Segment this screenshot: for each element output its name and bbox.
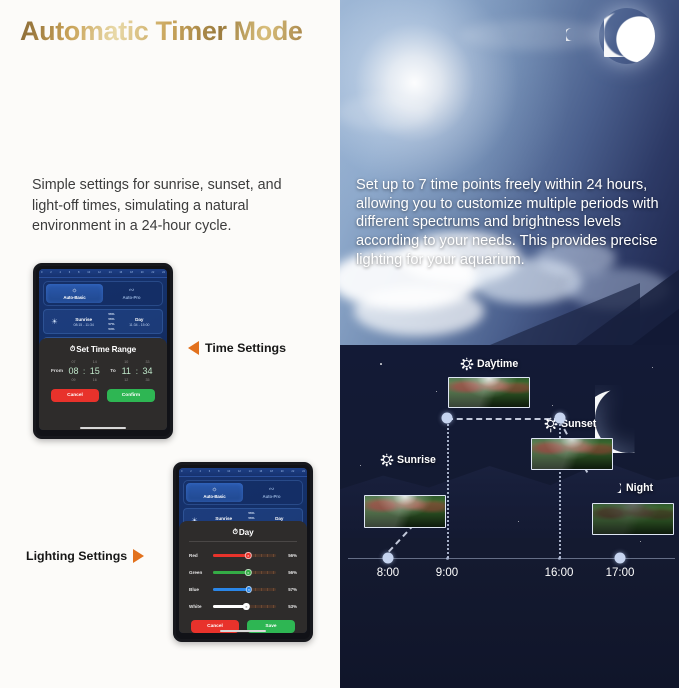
from-group: From 07 08 09 : 14 15 16	[51, 360, 102, 382]
pointer-time-settings: Time Settings	[188, 341, 286, 355]
clock-icon: ⏱	[70, 346, 75, 354]
wheel-next: 35	[146, 378, 150, 382]
slider-fill	[213, 571, 248, 573]
caption-label: Night	[626, 482, 653, 494]
period-sunrise-chips: 56% 56% 57% 53%	[105, 312, 117, 331]
chip-blue: 57%	[107, 322, 112, 326]
timeline-ruler[interactable]: 0 2 4 6 8 10 12 14 16 18 20 22 24	[39, 269, 167, 278]
pointer-time-label: Time Settings	[205, 341, 286, 355]
wheel-prev: 07	[72, 360, 76, 364]
sky-photo	[340, 0, 679, 345]
chart-node-8[interactable]	[383, 553, 394, 564]
caption-sunrise: Sunrise	[380, 453, 436, 466]
ruler-tick: 8	[78, 272, 79, 275]
tank-preview-sunrise	[364, 495, 446, 528]
tank-preview-sunset	[531, 438, 613, 470]
chip-green: 56%	[107, 317, 112, 321]
tab-auto-basic[interactable]: ☼ Auto-Basic	[46, 284, 103, 303]
page-title: Automatic Timer Mode	[20, 16, 303, 47]
chip-white-value: 53%	[108, 327, 114, 331]
tab-auto-pro[interactable]: ∾ Auto-Pro	[103, 284, 160, 303]
triangle-left-icon	[188, 341, 199, 355]
sun-icon: ☼	[211, 486, 217, 493]
moon-icon	[610, 482, 622, 494]
pointer-lighting-settings: Lighting Settings	[26, 549, 144, 563]
mode-tabs: ☼ Auto-Basic ∾ Auto-Pro	[43, 281, 163, 306]
slider-green[interactable]: ✕	[213, 570, 276, 576]
ruler-tick: 6	[209, 471, 210, 474]
axis-label-9: 9:00	[436, 567, 458, 579]
tablet-light-screen: 0 2 4 6 8 10 12 14 16 18 20 22 24 ☼	[179, 468, 307, 633]
dialog-title-row: ⏱ Day	[187, 528, 299, 537]
caption-label: Sunrise	[397, 454, 436, 466]
wheel-current: 11	[122, 366, 131, 376]
slider-label: White	[189, 604, 209, 609]
to-minute-wheel[interactable]: 33 34 35	[140, 360, 155, 382]
chart-node-17[interactable]	[615, 553, 626, 564]
chip-green: 56%	[247, 516, 252, 520]
slider-blue[interactable]: ✕	[213, 587, 276, 593]
ruler-tick: 20	[141, 272, 144, 275]
pointer-lighting-label: Lighting Settings	[26, 549, 127, 563]
period-name: Sunrise	[64, 317, 103, 322]
ruler-tick: 14	[109, 272, 112, 275]
axis-label-16: 16:00	[545, 567, 574, 579]
tab-auto-pro[interactable]: ∾ Auto-Pro	[243, 483, 300, 502]
chip-green-value: 56%	[248, 516, 254, 520]
period-day-name-block: Day 11:34 - 15:00	[120, 317, 159, 327]
ruler-tick: 8	[218, 471, 219, 474]
slider-row-blue: Blue ✕ 57%	[189, 581, 297, 598]
ruler-tick: 10	[227, 471, 230, 474]
slider-fill	[213, 605, 246, 607]
slider-fill	[213, 554, 248, 556]
wheel-current: 15	[90, 366, 100, 376]
right-panel: Set up to 7 time points freely within 24…	[340, 0, 679, 688]
ruler-tick: 22	[151, 272, 154, 275]
ruler-tick: 18	[270, 471, 273, 474]
chip-green-value: 56%	[108, 317, 114, 321]
ruler-tick: 4	[200, 471, 201, 474]
period-name: Day	[260, 516, 299, 521]
wheel-current: 08	[68, 366, 78, 376]
chart-axis	[348, 558, 675, 559]
tank-preview-night	[592, 503, 674, 535]
period-row-sunrise[interactable]: ☀ Sunrise 08:15 - 11:34 56% 56% 57% 53%	[43, 309, 163, 334]
time-picker: From 07 08 09 : 14 15 16	[47, 358, 159, 384]
period-time: 08:15 - 11:34	[64, 323, 103, 327]
ruler-tick: 18	[130, 272, 133, 275]
tab-auto-basic-label: Auto-Basic	[63, 295, 85, 300]
wheel-next: 09	[72, 378, 76, 382]
slider-row-white: White ✕ 53%	[189, 598, 297, 615]
page-root: Automatic Timer Mode Simple settings for…	[0, 0, 679, 688]
to-group: To 10 11 12 : 33 34 35	[110, 360, 155, 382]
ruler-tick: 10	[87, 272, 90, 275]
from-label: From	[51, 369, 63, 374]
chart-node-9[interactable]	[442, 413, 453, 424]
ruler-tick: 4	[60, 272, 61, 275]
chip-white: 53%	[107, 327, 112, 331]
ruler-tick: 22	[291, 471, 294, 474]
ruler-tick: 6	[69, 272, 70, 275]
tab-auto-pro-label: Auto-Pro	[263, 494, 281, 499]
ruler-tick: 14	[249, 471, 252, 474]
timeline-chart: Sunrise Daytime	[340, 345, 679, 688]
caption-label: Sunset	[561, 418, 596, 430]
confirm-button[interactable]: Confirm	[107, 389, 155, 402]
slider-fill	[213, 588, 249, 590]
triangle-right-icon	[133, 549, 144, 563]
timeline-ruler[interactable]: 0 2 4 6 8 10 12 14 16 18 20 22 24	[179, 468, 307, 477]
ruler-tick: 12	[238, 471, 241, 474]
slider-label: Blue	[189, 587, 209, 592]
period-time: 11:34 - 15:00	[120, 323, 159, 327]
to-hour-wheel[interactable]: 10 11 12	[119, 360, 134, 382]
ruler-tick: 2	[190, 471, 191, 474]
slider-knob[interactable]: ✕	[245, 569, 251, 575]
sun-icon	[380, 453, 393, 466]
period-name: Sunrise	[204, 516, 243, 521]
chip-red-value: 56%	[108, 312, 114, 316]
slider-red[interactable]: ✕	[213, 553, 276, 559]
from-hour-wheel[interactable]: 07 08 09	[66, 360, 81, 382]
axis-label-8: 8:00	[377, 567, 399, 579]
ruler-tick: 0	[181, 471, 182, 474]
period-sunrise-name-block: Sunrise 08:15 - 11:34	[64, 317, 103, 327]
intro-paragraph: Simple settings for sunrise, sunset, and…	[32, 175, 304, 237]
wheel-prev: 14	[93, 360, 97, 364]
axis-tick-16	[558, 557, 561, 560]
slider-value: 56%	[280, 553, 297, 558]
chip-blue-value: 57%	[108, 322, 114, 326]
dialog-title: Set Time Range	[76, 345, 136, 354]
slider-list: Red ✕ 56% Green	[187, 545, 299, 615]
slider-white[interactable]: ✕	[213, 604, 276, 610]
night-scene: Sunrise Daytime	[340, 345, 679, 688]
from-colon: :	[83, 367, 85, 376]
slider-value: 57%	[280, 587, 297, 592]
tablet-time-settings: 0 2 4 6 8 10 12 14 16 18 20 22 24 ☼	[33, 263, 173, 439]
axis-tick-9	[446, 557, 449, 560]
wheel-next: 16	[93, 378, 97, 382]
slider-label: Red	[189, 553, 209, 558]
slider-label: Green	[189, 570, 209, 575]
tab-auto-basic[interactable]: ☼ Auto-Basic	[186, 483, 243, 502]
clock-icon: ⏱	[232, 529, 237, 537]
tablet-lighting-settings: 0 2 4 6 8 10 12 14 16 18 20 22 24 ☼	[173, 462, 313, 642]
caption-label: Daytime	[477, 358, 518, 370]
dialog-title-row: ⏱ Set Time Range	[47, 345, 159, 354]
cancel-button[interactable]: Cancel	[51, 389, 99, 402]
wave-icon: ∾	[269, 486, 275, 493]
ruler-tick: 16	[119, 272, 122, 275]
ruler-tick: 0	[41, 272, 42, 275]
crescent-moon-icon	[599, 8, 655, 64]
right-description: Set up to 7 time points freely within 24…	[356, 176, 672, 269]
to-colon: :	[136, 367, 138, 376]
sun-icon: ☼	[71, 287, 77, 294]
sunrise-icon: ☀	[47, 317, 62, 326]
wave-icon: ∾	[129, 287, 135, 294]
tablet-time-screen: 0 2 4 6 8 10 12 14 16 18 20 22 24 ☼	[39, 269, 167, 430]
sun-icon	[460, 357, 473, 370]
lighting-dialog: ⏱ Day Red ✕ 56%	[179, 521, 307, 633]
ruler-tick: 20	[281, 471, 284, 474]
mode-tabs: ☼ Auto-Basic ∾ Auto-Pro	[183, 480, 303, 505]
chip-red: 56%	[107, 312, 112, 316]
ruler-tick: 24	[302, 471, 305, 474]
ruler-tick: 2	[50, 272, 51, 275]
slider-value: 53%	[280, 604, 297, 609]
divider	[189, 541, 297, 542]
to-label: To	[110, 369, 116, 374]
axis-label-17: 17:00	[606, 567, 635, 579]
chip-red: 56%	[247, 511, 252, 515]
wheel-prev: 10	[124, 360, 128, 364]
dialog-buttons: Cancel Confirm	[47, 389, 159, 402]
slider-knob[interactable]: ✕	[243, 603, 249, 609]
period-name: Day	[120, 317, 159, 322]
slider-knob[interactable]: ✕	[245, 552, 251, 558]
tab-auto-pro-label: Auto-Pro	[123, 295, 141, 300]
chip-red-value: 56%	[248, 511, 254, 515]
caption-sunset: Sunset	[544, 417, 596, 430]
chart-node-16[interactable]	[555, 413, 566, 424]
dialog-title: Day	[239, 528, 254, 537]
slider-value: 56%	[280, 570, 297, 575]
wheel-current: 34	[142, 366, 152, 376]
wheel-prev: 33	[146, 360, 150, 364]
home-indicator	[220, 630, 266, 632]
tank-preview-daytime	[448, 377, 530, 408]
home-indicator	[80, 427, 126, 429]
ruler-tick: 24	[162, 272, 165, 275]
from-minute-wheel[interactable]: 14 15 16	[87, 360, 102, 382]
ruler-tick: 12	[98, 272, 101, 275]
chart-guide-9	[447, 421, 449, 558]
caption-daytime: Daytime	[460, 357, 518, 370]
left-panel: Automatic Timer Mode Simple settings for…	[0, 0, 340, 688]
ruler-tick: 16	[259, 471, 262, 474]
slider-row-red: Red ✕ 56%	[189, 547, 297, 564]
slider-knob[interactable]: ✕	[246, 586, 252, 592]
caption-night: Night	[610, 482, 653, 494]
set-time-range-dialog: ⏱ Set Time Range From 07 08 09 :	[39, 338, 167, 430]
slider-row-green: Green ✕ 56%	[189, 564, 297, 581]
tab-auto-basic-label: Auto-Basic	[203, 494, 225, 499]
wheel-next: 12	[124, 378, 128, 382]
